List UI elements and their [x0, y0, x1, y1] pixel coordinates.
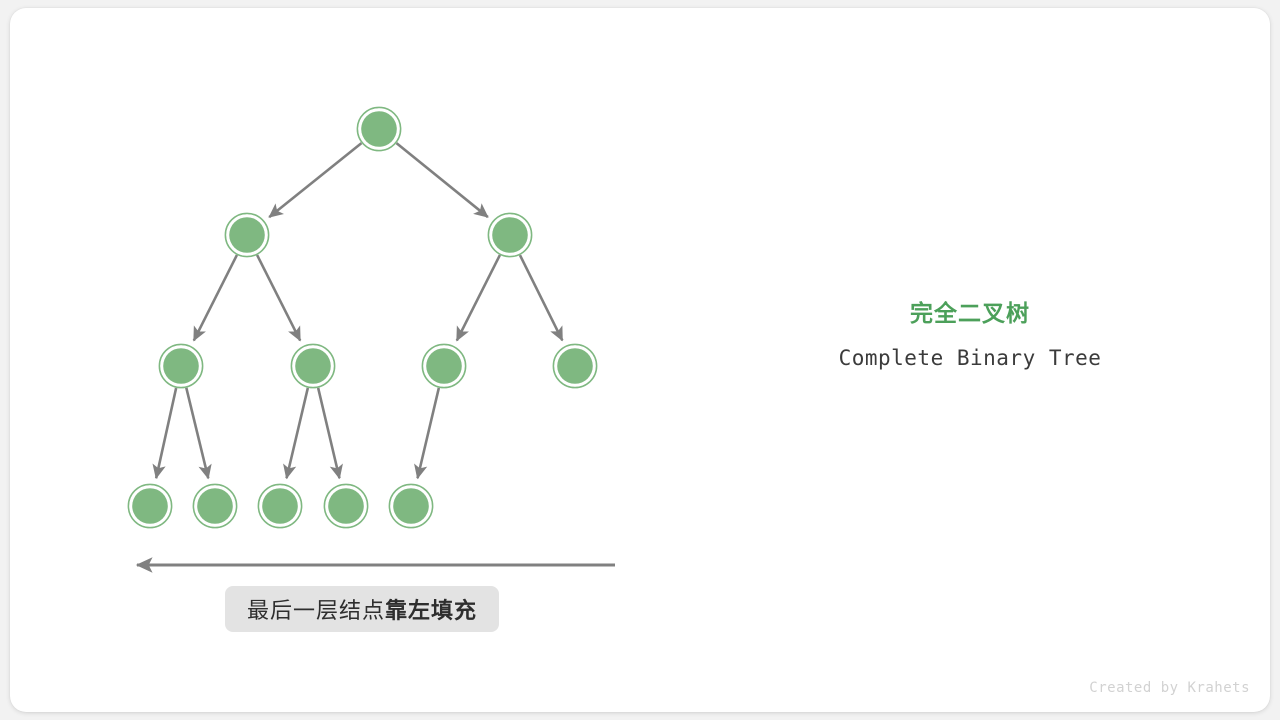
tree-node-disc: [393, 488, 429, 524]
tree-node: [159, 344, 202, 387]
tree-node-disc: [132, 488, 168, 524]
tree-node-disc: [295, 348, 331, 384]
slide-canvas: 完全二叉树 Complete Binary Tree 最后一层结点靠左填充 Cr…: [0, 0, 1280, 720]
tree-node-disc: [328, 488, 364, 524]
tree-node-disc: [492, 217, 528, 253]
tree-node: [357, 107, 400, 150]
tree-edge: [156, 388, 176, 478]
tree-node: [128, 484, 171, 527]
tree-edge: [396, 143, 487, 217]
tree-edge: [457, 255, 500, 340]
tree-node-disc: [163, 348, 199, 384]
tree-edge: [269, 143, 361, 217]
tree-node-disc: [361, 111, 397, 147]
tree-edge: [194, 255, 237, 340]
tree-node-disc: [229, 217, 265, 253]
tree-node: [225, 213, 268, 256]
tree-node: [258, 484, 301, 527]
tree-edge-layer: [156, 143, 562, 478]
tree-node: [422, 344, 465, 387]
tree-node: [291, 344, 334, 387]
tree-node-disc: [262, 488, 298, 524]
tree-edge: [186, 388, 208, 478]
credit-text: Created by Krahets: [1089, 680, 1250, 696]
fill-label-emphasis: 靠左填充: [385, 593, 477, 625]
caption-block: 完全二叉树 Complete Binary Tree: [780, 296, 1160, 372]
tree-node: [389, 484, 432, 527]
tree-node: [488, 213, 531, 256]
tree-edge: [520, 255, 562, 340]
tree-edge: [257, 255, 300, 340]
caption-subtitle: Complete Binary Tree: [780, 344, 1160, 372]
tree-edge: [287, 388, 308, 478]
fill-label-prefix: 最后一层结点: [247, 593, 385, 625]
tree-node: [324, 484, 367, 527]
last-level-fill-label: 最后一层结点靠左填充: [225, 586, 499, 632]
tree-node-disc: [426, 348, 462, 384]
tree-node: [553, 344, 596, 387]
caption-title: 完全二叉树: [780, 296, 1160, 330]
tree-node-layer: [128, 107, 596, 527]
tree-node: [193, 484, 236, 527]
tree-node-disc: [197, 488, 233, 524]
tree-edge: [418, 388, 439, 478]
tree-node-disc: [557, 348, 593, 384]
tree-edge: [318, 388, 339, 478]
